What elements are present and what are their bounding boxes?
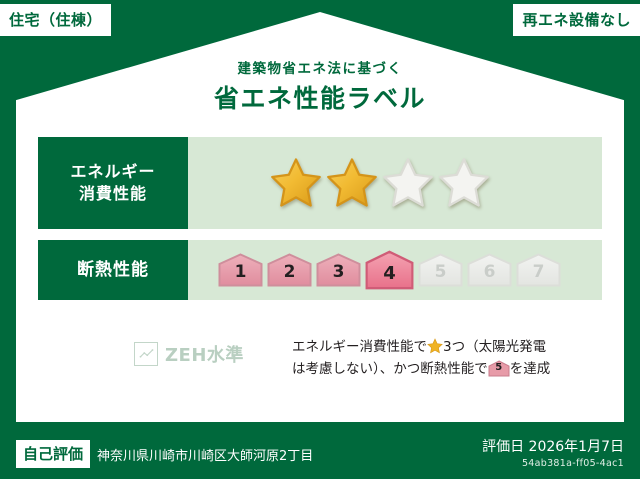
insulation-performance-label: 断熱性能 [38,240,188,300]
insulation-grade-value: 1 [235,262,247,287]
insulation-grade-value: 2 [284,262,296,287]
zeh-desc-part1: エネルギー消費性能で [292,339,427,355]
property-address: 神奈川県川崎市川崎区大師河原2丁目 [97,445,313,464]
insulation-performance-row: 断熱性能 1234567 [38,240,602,300]
energy-label-card: 住宅（住棟） 再エネ設備なし 建築物省エネ法に基づく 省エネ性能ラベル エネルギ… [0,0,640,479]
insulation-grade-value: 3 [333,262,345,287]
zeh-mark: ZEH水準 [38,336,246,367]
footer-left: 自己評価 神奈川県川崎市川崎区大師河原2丁目 [16,440,313,468]
evaluation-date: 評価日 2026年1月7日 [482,436,624,456]
insulation-grade-6: 6 [467,253,512,287]
star-filled-icon [270,157,322,209]
energy-performance-label: エネルギー 消費性能 [38,137,188,229]
inline-star-icon [427,338,443,354]
zeh-chart-icon [134,342,158,366]
insulation-label-text: 断熱性能 [77,259,149,282]
zeh-desc-part4: を達成 [510,361,551,377]
insulation-grade-value: 4 [383,263,396,290]
zeh-description: エネルギー消費性能で 3つ（太陽光発電 は考慮しない）、かつ断熱性能で 5 を達… [246,336,602,381]
energy-label-line2: 消費性能 [79,183,147,205]
insulation-grade-2: 2 [267,253,312,287]
star-empty-icon [382,157,434,209]
zeh-section: ZEH水準 エネルギー消費性能で 3つ（太陽光発電 は考慮しない）、かつ断熱性能… [38,336,602,381]
zeh-mark-label: ZEH水準 [165,341,244,367]
insulation-grade-value: 5 [435,262,447,287]
energy-star-rating [188,137,602,229]
label-title: 省エネ性能ラベル [0,79,640,115]
inline-grade-value: 5 [488,360,510,377]
inline-grade-badge: 5 [488,360,510,377]
insulation-grade-3: 3 [316,253,361,287]
insulation-grade-value: 6 [484,262,496,287]
energy-label-line1: エネルギー [70,161,155,183]
renewable-equipment-badge: 再エネ設備なし [513,4,640,36]
building-type-badge: 住宅（住棟） [0,4,111,36]
evaluation-type-badge: 自己評価 [16,440,90,468]
star-empty-icon [438,157,490,209]
insulation-grade-4: 4 [365,250,414,290]
label-subtitle: 建築物省エネ法に基づく [0,57,640,77]
label-id: 54ab381a-ff05-4ac1 [482,458,624,469]
energy-performance-row: エネルギー 消費性能 [38,137,602,229]
insulation-grade-5: 5 [418,253,463,287]
insulation-grade-scale: 1234567 [188,240,602,300]
card-footer: 自己評価 神奈川県川崎市川崎区大師河原2丁目 評価日 2026年1月7日 54a… [0,426,640,479]
insulation-grade-value: 7 [533,262,545,287]
zeh-desc-part3: は考慮しない）、かつ断熱性能で [292,361,488,377]
star-filled-icon [326,157,378,209]
insulation-grade-7: 7 [516,253,561,287]
zeh-desc-part2: 3つ（太陽光発電 [443,339,546,355]
footer-right: 評価日 2026年1月7日 54ab381a-ff05-4ac1 [482,436,624,469]
insulation-grade-1: 1 [218,253,263,287]
